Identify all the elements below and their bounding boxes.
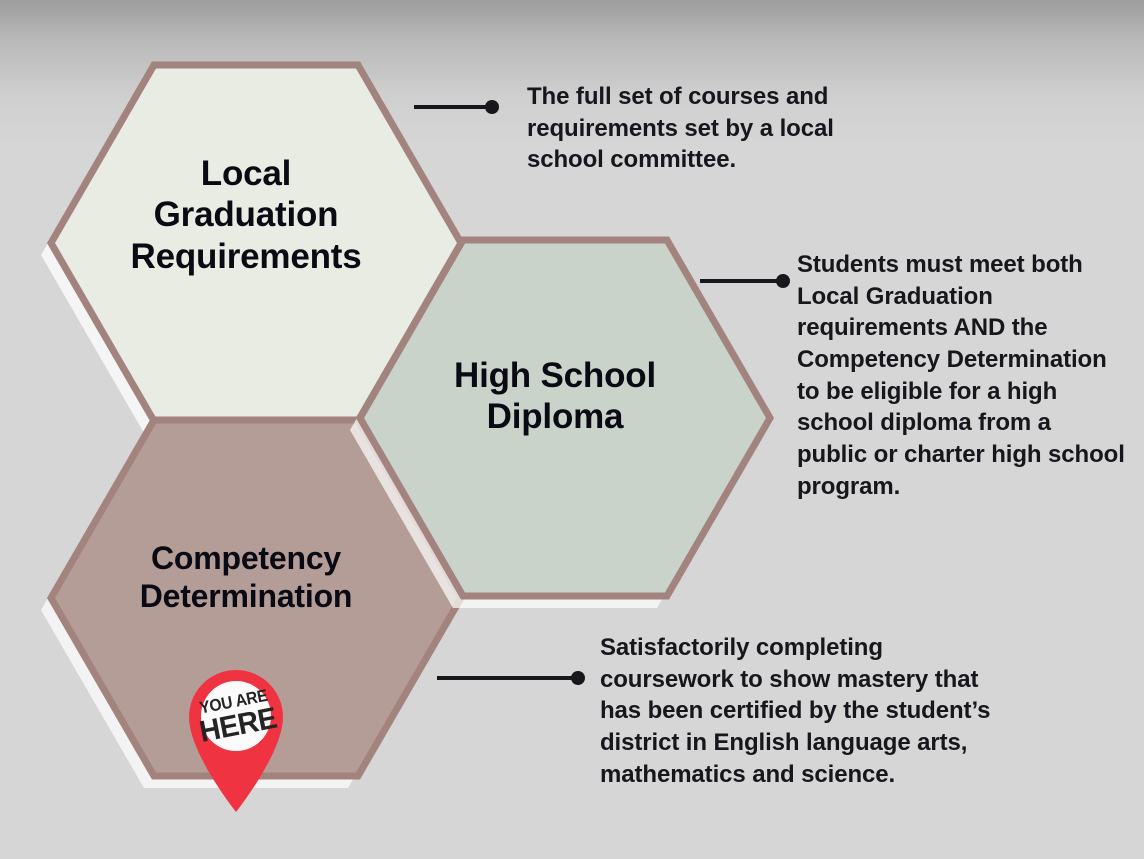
connector-stem: [414, 105, 486, 109]
connector-dot-icon: [776, 274, 790, 288]
hexagon-high-school-diploma[interactable]: High School Diploma: [335, 230, 775, 630]
hexagon-shape: [335, 230, 775, 630]
connector-dot-icon: [571, 671, 585, 685]
connector-line-competency-determination: [437, 671, 586, 685]
callout-text-local-graduation: The full set of courses and requirements…: [527, 81, 877, 176]
infographic-canvas: Local Graduation Requirements Competency…: [0, 0, 1144, 859]
connector-stem: [700, 279, 777, 283]
you-are-here-marker[interactable]: YOU ARE HERE: [181, 661, 291, 813]
connector-stem: [437, 676, 572, 680]
callout-text-high-school-diploma: Students must meet both Local Graduation…: [797, 249, 1127, 502]
callout-text-competency-determination: Satisfactorily completing coursework to …: [600, 632, 1020, 790]
connector-dot-icon: [485, 100, 499, 114]
connector-line-local-graduation: [414, 100, 500, 114]
connector-line-high-school-diploma: [700, 274, 791, 288]
map-pin-icon: [181, 661, 291, 813]
